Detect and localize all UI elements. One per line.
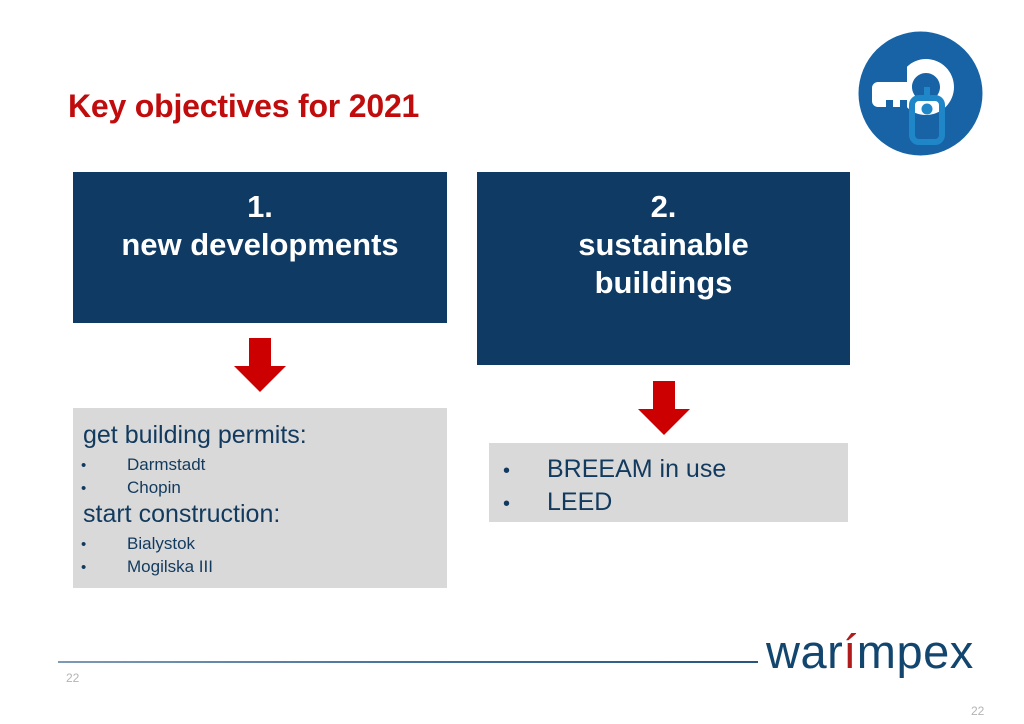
construction-bullet-list: • Bialystok • Mogilska III — [73, 533, 447, 579]
key-with-tag-icon — [855, 28, 986, 159]
certification-bullet-list: • BREEAM in use • LEED — [489, 453, 848, 518]
objective-box-1: 1. new developments — [73, 172, 447, 323]
list-item: • Darmstadt — [73, 454, 447, 476]
list-item: • Bialystok — [73, 533, 447, 555]
group-heading-construction: start construction: — [73, 499, 447, 531]
brand-accent-letter: í — [843, 625, 857, 678]
bullet-icon: • — [81, 456, 127, 475]
bullet-icon: • — [503, 492, 547, 518]
list-item-label: BREEAM in use — [547, 453, 848, 485]
bullet-icon: • — [81, 479, 127, 498]
page-title: Key objectives for 2021 — [68, 88, 419, 125]
brand-suffix: mpex — [857, 625, 974, 678]
list-item-label: Bialystok — [127, 533, 447, 555]
objective-2-number: 2. — [477, 188, 850, 226]
details-box-1: get building permits: • Darmstadt • Chop… — [73, 408, 447, 588]
objective-2-heading-line1: sustainable — [477, 226, 850, 264]
list-item-label: LEED — [547, 486, 848, 518]
list-item-label: Mogilska III — [127, 556, 447, 578]
list-item: • LEED — [489, 486, 848, 518]
list-item: • BREEAM in use — [489, 453, 848, 485]
down-arrow-icon-1 — [231, 336, 289, 394]
objective-box-2: 2. sustainable buildings — [477, 172, 850, 365]
permits-bullet-list: • Darmstadt • Chopin — [73, 454, 447, 500]
page-number-right: 22 — [971, 704, 984, 718]
brand-prefix: war — [766, 625, 843, 678]
slide-canvas: Key objectives for 2021 1. new developme… — [0, 0, 1024, 724]
group-heading-permits: get building permits: — [73, 420, 447, 452]
page-number-left: 22 — [66, 671, 79, 685]
objective-1-heading: new developments — [73, 226, 447, 264]
list-item-label: Chopin — [127, 477, 447, 499]
objective-1-number: 1. — [73, 188, 447, 226]
details-box-2: • BREEAM in use • LEED — [489, 443, 848, 522]
bullet-icon: • — [81, 558, 127, 577]
down-arrow-icon-2 — [635, 379, 693, 437]
footer-divider — [58, 661, 758, 663]
bullet-icon: • — [503, 459, 547, 485]
list-item: • Mogilska III — [73, 556, 447, 578]
warimpex-logo: warímpex — [766, 628, 974, 675]
list-item-label: Darmstadt — [127, 454, 447, 476]
objective-2-heading-line2: buildings — [477, 264, 850, 302]
list-item: • Chopin — [73, 477, 447, 499]
bullet-icon: • — [81, 535, 127, 554]
